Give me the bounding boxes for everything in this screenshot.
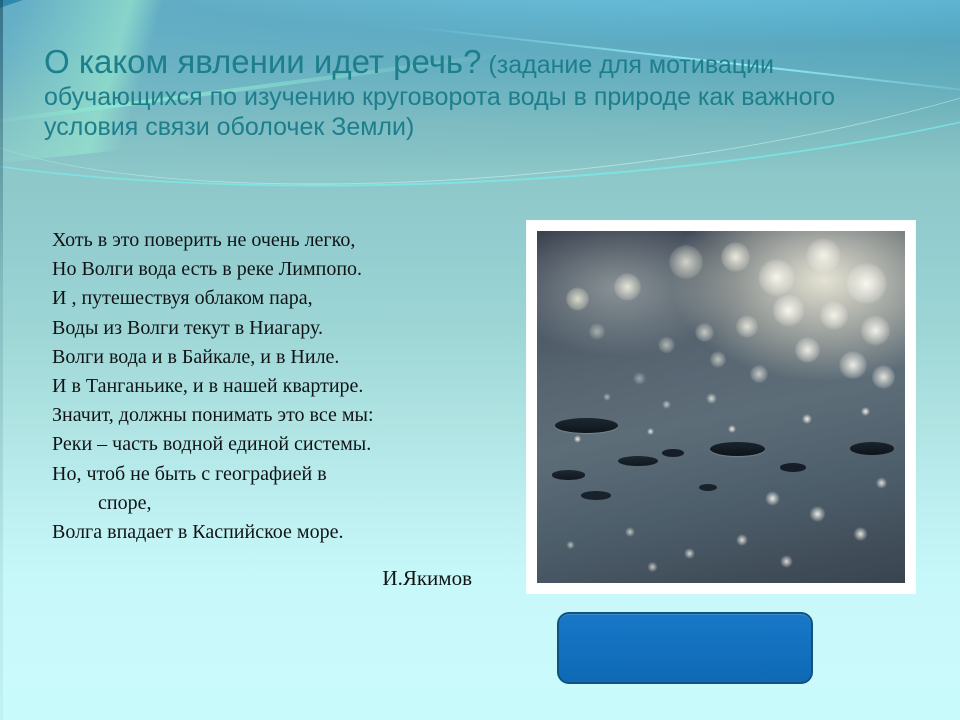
droplet-highlight [728,425,736,433]
bokeh-dot [773,294,805,326]
bokeh-dot [861,315,890,345]
bokeh-dot [614,273,641,301]
bokeh-dot [806,238,841,273]
bokeh-dot [695,323,713,342]
droplet-highlight [647,562,657,573]
poem-line: И в Танганьике, и в нашей квартире. [52,372,502,401]
droplet-highlight [625,527,635,537]
water-droplet [581,491,610,499]
droplet-highlight [765,491,780,506]
water-droplet [710,442,765,456]
bokeh-dot [721,242,750,272]
water-droplet [552,470,585,479]
poem-line: Воды из Волги текут в Ниагару. [52,314,502,343]
droplet-highlight [809,506,826,523]
bokeh-dot [872,365,896,389]
water-droplet [780,463,806,471]
poem-line: Волга впадает в Каспийское море. [52,518,502,547]
slide-left-edge [0,0,3,720]
water-droplet [618,456,658,466]
droplet-highlight [853,527,868,542]
droplet-highlight [876,477,888,489]
water-droplet [662,449,684,457]
water-droplets-photo [537,231,905,583]
bokeh-dot [669,245,702,279]
droplet-highlight [736,534,749,547]
droplet-highlight [647,428,654,435]
poem-line: И , путешествуя облаком пара, [52,284,502,313]
droplet-highlight [574,435,581,442]
blue-action-button[interactable] [557,612,813,684]
bokeh-dot [839,351,867,379]
poem-line: споре, [52,489,502,518]
photo-frame [527,221,915,593]
poem-line: Реки – часть водной единой системы. [52,430,502,459]
bokeh-dot [795,337,821,363]
poem-line: Значит, должны понимать это все мы: [52,401,502,430]
droplet-highlight [780,555,793,568]
bokeh-dot [633,372,646,385]
bokeh-dot [750,365,768,383]
poem-line: Но, чтоб не быть с географией в [52,460,502,489]
bokeh-dot [820,301,847,329]
droplet-highlight [802,414,812,424]
bokeh-dot [710,351,726,368]
bokeh-dot [846,263,886,304]
water-droplet [699,484,717,491]
poem-text-block: Хоть в это поверить не очень легко, Но В… [52,226,502,547]
bokeh-dot [736,315,758,338]
bokeh-dot [589,323,606,341]
poem-line: Хоть в это поверить не очень легко, [52,226,502,255]
droplet-highlight [566,541,574,549]
droplet-highlight [684,548,695,559]
presentation-slide: О каком явлении идет речь? (задание для … [0,0,960,720]
slide-title: О каком явлении идет речь? (задание для … [44,42,924,142]
poem-author: И.Якимов [52,566,472,591]
droplet-highlight [603,393,610,401]
droplet-highlight [662,400,671,409]
droplet-highlight [706,393,717,404]
bokeh-dot [758,259,795,296]
bokeh-dot [658,337,674,354]
water-droplet [555,418,618,433]
bokeh-dot [566,287,588,310]
poem-line: Но Волги вода есть в реке Лимпопо. [52,255,502,284]
slide-title-main: О каком явлении идет речь? [44,43,481,80]
water-droplet [850,442,894,455]
droplet-highlight [861,407,870,416]
poem-line: Волги вода и в Байкале, и в Ниле. [52,343,502,372]
